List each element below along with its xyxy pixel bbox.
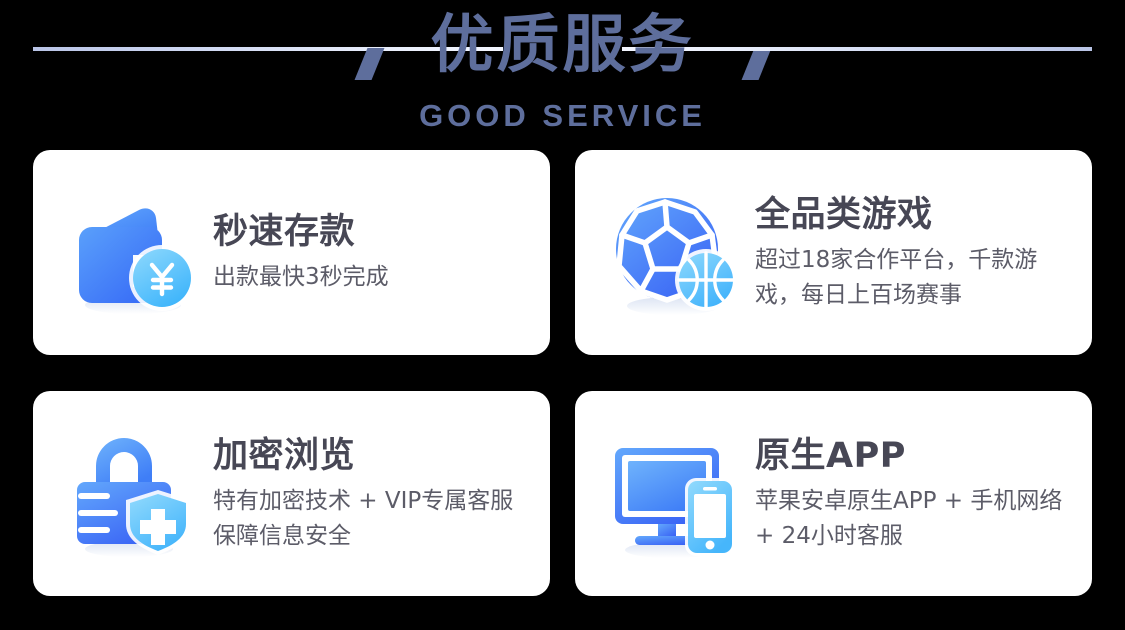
feature-card-text: 全品类游戏 超过18家合作平台，千款游戏，每日上百场赛事	[755, 193, 1092, 313]
soccer-basketball-icon	[605, 183, 745, 323]
feature-card-desc: 出款最快3秒完成	[213, 260, 536, 295]
feature-card-games[interactable]: 全品类游戏 超过18家合作平台，千款游戏，每日上百场赛事	[575, 150, 1092, 355]
monitor-phone-icon	[605, 424, 745, 564]
feature-card-title: 秒速存款	[213, 210, 536, 254]
feature-card-text: 原生APP 苹果安卓原生APP + 手机网络 + 24小时客服	[755, 434, 1092, 554]
feature-card-title: 原生APP	[755, 434, 1078, 478]
promo-banner: 优质服务 GOOD SERVICE	[0, 0, 1125, 630]
feature-card-text: 加密浏览 特有加密技术 + VIP专属客服保障信息安全	[213, 434, 550, 554]
banner-header: 优质服务 GOOD SERVICE	[0, 0, 1125, 142]
lock-shield-icon	[63, 424, 203, 564]
feature-card-desc: 特有加密技术 + VIP专属客服保障信息安全	[213, 484, 536, 554]
feature-card-desc: 超过18家合作平台，千款游戏，每日上百场赛事	[755, 243, 1078, 313]
feature-card-desc: 苹果安卓原生APP + 手机网络 + 24小时客服	[755, 484, 1078, 554]
feature-card-title: 加密浏览	[213, 434, 536, 478]
feature-card-deposit[interactable]: 秒速存款 出款最快3秒完成	[33, 150, 550, 355]
feature-card-text: 秒速存款 出款最快3秒完成	[213, 210, 550, 295]
feature-card-grid: 秒速存款 出款最快3秒完成	[33, 150, 1092, 596]
wallet-yen-icon	[63, 183, 203, 323]
feature-card-title: 全品类游戏	[755, 193, 1078, 237]
page-subtitle: GOOD SERVICE	[0, 98, 1125, 134]
feature-card-native-app[interactable]: 原生APP 苹果安卓原生APP + 手机网络 + 24小时客服	[575, 391, 1092, 596]
page-title: 优质服务	[0, 6, 1125, 84]
feature-card-encryption[interactable]: 加密浏览 特有加密技术 + VIP专属客服保障信息安全	[33, 391, 550, 596]
